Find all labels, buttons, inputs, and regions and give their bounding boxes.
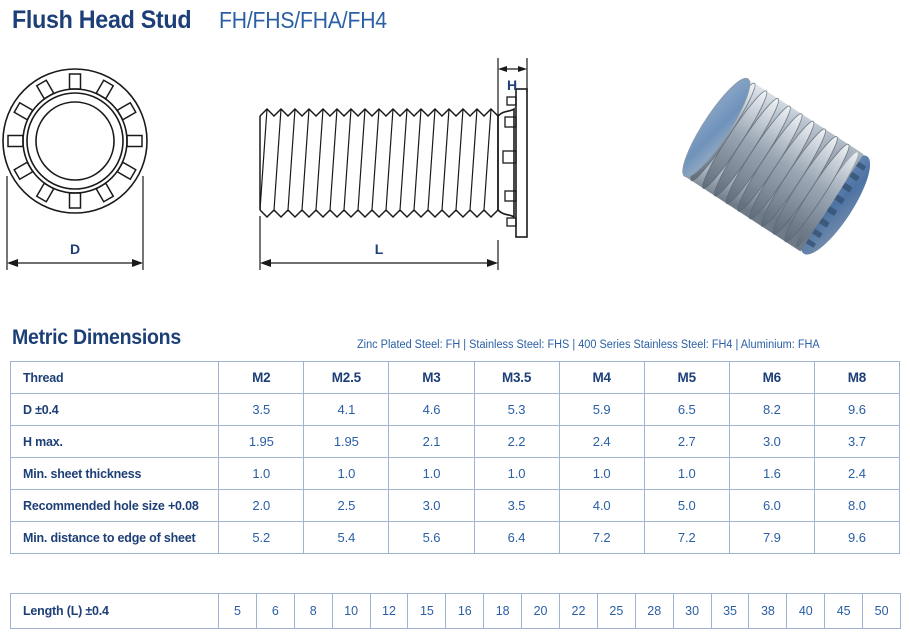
- length-value: 8: [294, 594, 332, 629]
- cell-value: 6.0: [729, 490, 814, 522]
- column-header-m6: M6: [729, 362, 814, 394]
- product-photo: [660, 62, 900, 282]
- figure-group: D: [0, 48, 910, 298]
- cell-value: 3.5: [219, 394, 304, 426]
- cell-value: 3.7: [814, 426, 899, 458]
- cell-value: 6.4: [474, 522, 559, 554]
- materials-legend: Zinc Plated Steel: FH | Stainless Steel:…: [357, 339, 820, 351]
- dimension-label-d: D: [70, 241, 80, 257]
- cell-value: 1.0: [559, 458, 644, 490]
- cell-value: 4.6: [389, 394, 474, 426]
- side-view-diagram: H L: [248, 48, 528, 298]
- cell-value: 1.6: [729, 458, 814, 490]
- cell-value: 1.0: [304, 458, 389, 490]
- row-label: D ±0.4: [11, 394, 219, 426]
- length-value: 15: [408, 594, 446, 629]
- row-label: Min. sheet thickness: [11, 458, 219, 490]
- page-title: Flush Head Stud: [12, 6, 191, 35]
- column-header-m2-5: M2.5: [304, 362, 389, 394]
- length-value: 45: [825, 594, 863, 629]
- length-value: 10: [332, 594, 370, 629]
- length-value: 16: [446, 594, 484, 629]
- top-view-diagram: D: [0, 48, 240, 298]
- cell-value: 1.95: [219, 426, 304, 458]
- row-label: Recommended hole size +0.08: [11, 490, 219, 522]
- length-value: 18: [484, 594, 522, 629]
- cell-value: 6.5: [644, 394, 729, 426]
- section-header: Metric Dimensions: [12, 326, 194, 350]
- cell-value: 5.0: [644, 490, 729, 522]
- cell-value: 1.95: [304, 426, 389, 458]
- cell-value: 7.9: [729, 522, 814, 554]
- cell-value: 2.2: [474, 426, 559, 458]
- length-value: 20: [522, 594, 560, 629]
- length-options-table: Length (L) ±0.4 5 6 8 10 12 15 16 18 20 …: [10, 593, 901, 629]
- cell-value: 2.4: [814, 458, 899, 490]
- row-label: H max.: [11, 426, 219, 458]
- length-value: 12: [370, 594, 408, 629]
- cell-value: 2.0: [219, 490, 304, 522]
- column-header-m2: M2: [219, 362, 304, 394]
- cell-value: 7.2: [559, 522, 644, 554]
- cell-value: 5.4: [304, 522, 389, 554]
- table-row: Min. sheet thickness 1.0 1.0 1.0 1.0 1.0…: [11, 458, 900, 490]
- cell-value: 1.0: [474, 458, 559, 490]
- cell-value: 9.6: [814, 394, 899, 426]
- length-value: 22: [560, 594, 598, 629]
- length-value: 38: [749, 594, 787, 629]
- cell-value: 2.5: [304, 490, 389, 522]
- length-value: 30: [673, 594, 711, 629]
- cell-value: 5.6: [389, 522, 474, 554]
- stud-body: [674, 72, 881, 263]
- row-label-length: Length (L) ±0.4: [11, 594, 219, 629]
- cell-value: 8.0: [814, 490, 899, 522]
- thread-profile: [260, 109, 498, 217]
- cell-value: 1.0: [644, 458, 729, 490]
- table-header-row: Thread M2 M2.5 M3 M3.5 M4 M5 M6 M8: [11, 362, 900, 394]
- length-value: 35: [711, 594, 749, 629]
- cell-value: 3.5: [474, 490, 559, 522]
- dimension-label-l: L: [375, 241, 384, 257]
- cell-value: 5.2: [219, 522, 304, 554]
- row-label: Min. distance to edge of sheet: [11, 522, 219, 554]
- metric-dimensions-table: Thread M2 M2.5 M3 M3.5 M4 M5 M6 M8 D ±0.…: [10, 361, 900, 554]
- cell-value: 8.2: [729, 394, 814, 426]
- length-value: 28: [635, 594, 673, 629]
- column-header-m4: M4: [559, 362, 644, 394]
- cell-value: 9.6: [814, 522, 899, 554]
- page-header: Flush Head Stud FH/FHS/FHA/FH4: [12, 6, 401, 35]
- table-row: Length (L) ±0.4 5 6 8 10 12 15 16 18 20 …: [11, 594, 901, 629]
- length-value: 50: [863, 594, 901, 629]
- column-header-m3-5: M3.5: [474, 362, 559, 394]
- length-value: 25: [597, 594, 635, 629]
- cell-value: 4.1: [304, 394, 389, 426]
- section-title: Metric Dimensions: [12, 326, 181, 350]
- table-row: D ±0.4 3.5 4.1 4.6 5.3 5.9 6.5 8.2 9.6: [11, 394, 900, 426]
- column-header-m3: M3: [389, 362, 474, 394]
- cell-value: 3.0: [389, 490, 474, 522]
- length-value: 40: [787, 594, 825, 629]
- cell-value: 2.1: [389, 426, 474, 458]
- length-value: 6: [256, 594, 294, 629]
- table-row: Min. distance to edge of sheet 5.2 5.4 5…: [11, 522, 900, 554]
- cell-value: 5.3: [474, 394, 559, 426]
- cell-value: 2.7: [644, 426, 729, 458]
- cell-value: 5.9: [559, 394, 644, 426]
- cell-value: 7.2: [644, 522, 729, 554]
- table-row: Recommended hole size +0.08 2.0 2.5 3.0 …: [11, 490, 900, 522]
- flange-head: [498, 89, 527, 237]
- table-row: H max. 1.95 1.95 2.1 2.2 2.4 2.7 3.0 3.7: [11, 426, 900, 458]
- column-header-m8: M8: [814, 362, 899, 394]
- length-value: 5: [219, 594, 257, 629]
- column-header-m5: M5: [644, 362, 729, 394]
- cell-value: 1.0: [389, 458, 474, 490]
- part-code-subtitle: FH/FHS/FHA/FH4: [219, 7, 387, 34]
- knurl-teeth: [8, 74, 142, 208]
- cell-value: 2.4: [559, 426, 644, 458]
- dimension-label-h: H: [507, 77, 517, 93]
- cell-value: 1.0: [219, 458, 304, 490]
- cell-value: 4.0: [559, 490, 644, 522]
- column-header-thread: Thread: [11, 362, 219, 394]
- cell-value: 3.0: [729, 426, 814, 458]
